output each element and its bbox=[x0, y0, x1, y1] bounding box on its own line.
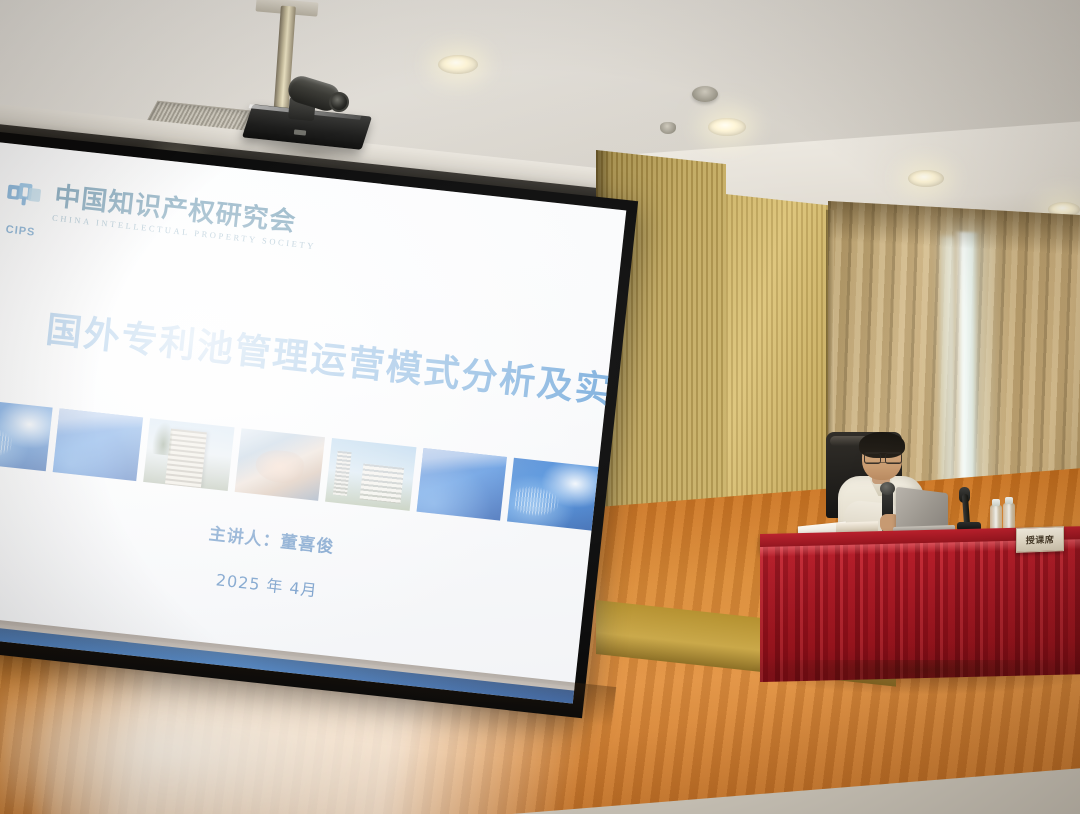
blue-abstract-image bbox=[52, 408, 143, 481]
table-floor-shadow bbox=[752, 660, 1080, 694]
smoke-detector-icon bbox=[692, 86, 718, 102]
eyeglasses-icon bbox=[864, 452, 902, 463]
projection-screen[interactable]: CIPS 中国知识产权研究会 CHINA INTELLECTUAL PROPER… bbox=[0, 142, 626, 704]
presentation-slide: CIPS 中国知识产权研究会 CHINA INTELLECTUAL PROPER… bbox=[0, 142, 626, 704]
blue-abstract-image-2 bbox=[416, 448, 507, 521]
downlight-icon bbox=[708, 118, 746, 136]
nameplate-text: 授课席 bbox=[1026, 533, 1055, 547]
city-skyline-image bbox=[325, 438, 416, 511]
camera-lens-icon bbox=[329, 92, 349, 112]
downlight-icon bbox=[438, 55, 478, 74]
handshake-image bbox=[234, 428, 325, 501]
slide-title: 国外专利池管理运营模式分析及实践 bbox=[44, 301, 567, 409]
lecturer-nameplate: 授课席 bbox=[1016, 526, 1064, 553]
water-bottle-cap bbox=[1005, 497, 1013, 504]
sprinkler-head-icon bbox=[660, 122, 676, 134]
downlight-icon bbox=[908, 170, 944, 187]
cips-mark-icon: CIPS bbox=[2, 177, 46, 221]
water-bottle-cap bbox=[992, 499, 1000, 506]
office-building-image bbox=[143, 418, 234, 491]
conference-room-photo: CIPS 中国知识产权研究会 CHINA INTELLECTUAL PROPER… bbox=[0, 0, 1080, 814]
cips-acronym: CIPS bbox=[0, 223, 41, 239]
org-name-block: 中国知识产权研究会 CHINA INTELLECTUAL PROPERTY SO… bbox=[52, 183, 320, 250]
globe-network-image bbox=[0, 398, 52, 471]
cips-logo: CIPS 中国知识产权研究会 CHINA INTELLECTUAL PROPER… bbox=[2, 177, 320, 251]
microphone-capsule-icon bbox=[880, 482, 895, 495]
globe-network-image-2 bbox=[507, 458, 598, 531]
